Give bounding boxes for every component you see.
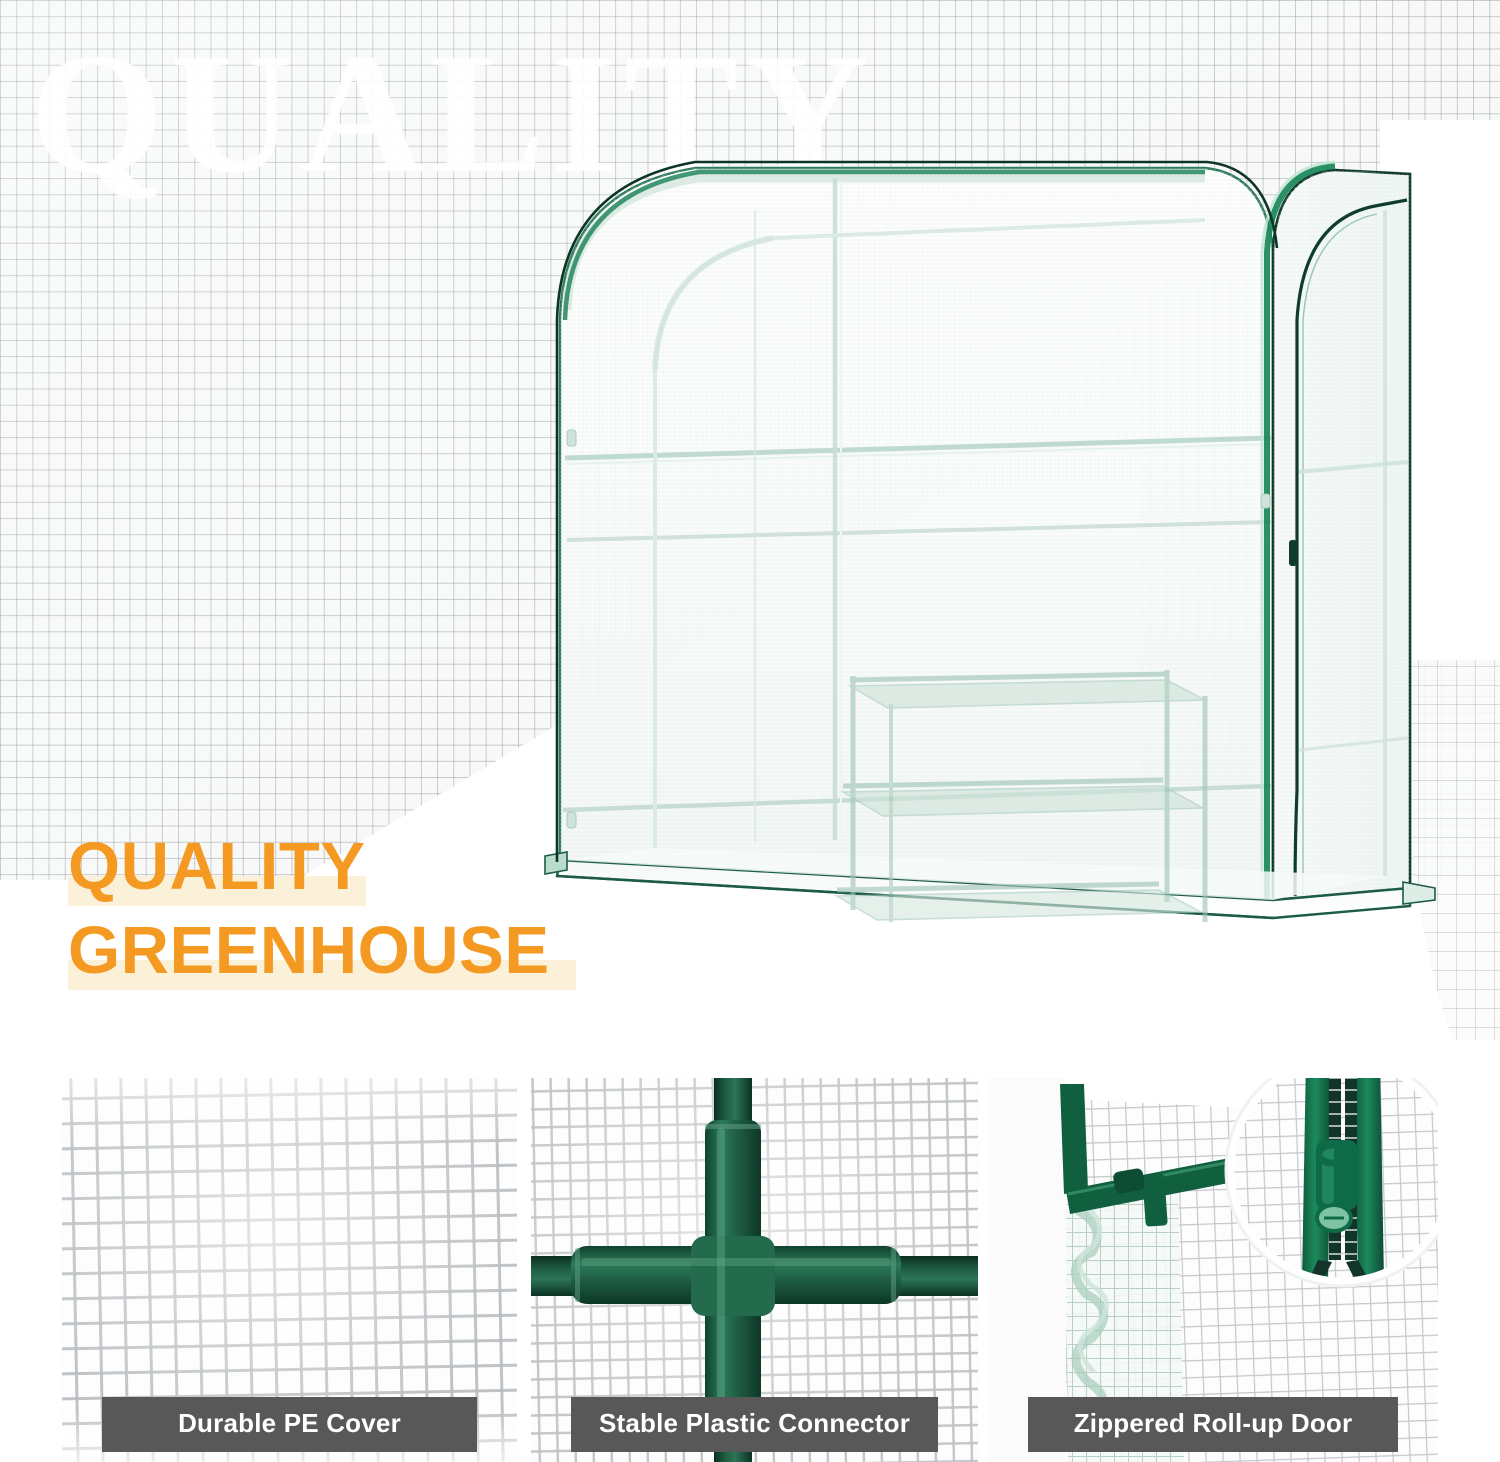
headline-block: QUALITY GREENHOUSE xyxy=(68,826,708,994)
feature-caption-pe-cover: Durable PE Cover xyxy=(102,1397,477,1452)
hero-section: QUALITY xyxy=(0,0,1500,1060)
feature-panel-stable-plastic-connector: Stable Plastic Connector xyxy=(531,1078,978,1462)
feature-caption-zipper-door: Zippered Roll-up Door xyxy=(1028,1397,1398,1452)
product-marketing-image: QUALITY xyxy=(0,0,1500,1462)
feature-caption-connector: Stable Plastic Connector xyxy=(571,1397,938,1452)
headline-line-2: GREENHOUSE xyxy=(68,910,708,994)
feature-panel-durable-pe-cover: Durable PE Cover xyxy=(62,1078,517,1462)
feature-panels-row: Durable PE Cover xyxy=(0,1060,1500,1462)
headline-text-1: QUALITY xyxy=(68,826,366,908)
headline-line-1: QUALITY xyxy=(68,826,708,910)
feature-panel-zippered-rollup-door: Zippered Roll-up Door xyxy=(988,1078,1438,1462)
headline-text-2: GREENHOUSE xyxy=(68,910,550,992)
